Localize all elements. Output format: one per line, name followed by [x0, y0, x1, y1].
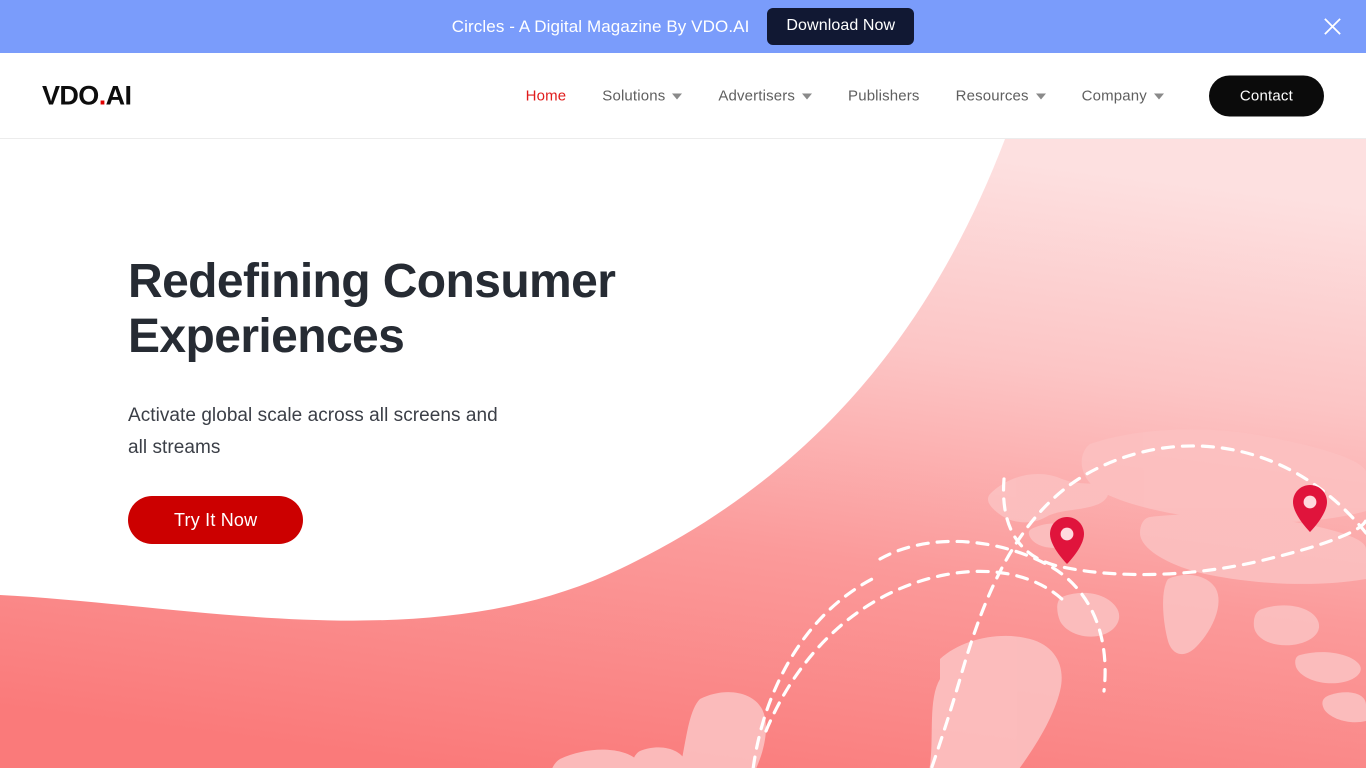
hero-subtitle: Activate global scale across all screens… [128, 400, 598, 464]
chevron-down-icon [1154, 94, 1164, 100]
nav-item-home[interactable]: Home [508, 87, 585, 104]
main-navigation: Home Solutions Advertisers Publishers Re… [508, 75, 1324, 116]
promo-message: Circles - A Digital Magazine By VDO.AI [452, 17, 750, 37]
logo-vdo-ai[interactable]: VDO.AI [42, 80, 131, 111]
hero-title-line-1: Redefining Consumer [128, 255, 615, 308]
logo-main: VDO [42, 80, 99, 110]
hero-section: Redefining Consumer Experiences Activate… [0, 139, 1366, 768]
nav-label-solutions: Solutions [602, 87, 665, 104]
chevron-down-icon [802, 94, 812, 100]
promo-banner: Circles - A Digital Magazine By VDO.AI D… [0, 0, 1366, 53]
close-icon [1324, 18, 1341, 35]
hero-copy: Redefining Consumer Experiences Activate… [128, 255, 748, 544]
nav-item-advertisers[interactable]: Advertisers [700, 87, 830, 104]
download-now-button[interactable]: Download Now [767, 8, 914, 45]
nav-label-company: Company [1082, 87, 1147, 104]
logo-suffix: AI [106, 80, 132, 110]
close-banner-button[interactable] [1318, 13, 1346, 41]
chevron-down-icon [1036, 94, 1046, 100]
site-header: VDO.AI Home Solutions Advertisers Publis… [0, 53, 1366, 139]
contact-button[interactable]: Contact [1209, 75, 1324, 116]
nav-label-publishers: Publishers [848, 87, 920, 104]
nav-label-advertisers: Advertisers [718, 87, 795, 104]
nav-item-company[interactable]: Company [1064, 87, 1182, 104]
hero-title-line-2: Experiences [128, 310, 404, 363]
hero-subtitle-line-1: Activate global scale across all screens… [128, 405, 498, 426]
nav-item-resources[interactable]: Resources [938, 87, 1064, 104]
nav-label-home: Home [526, 87, 567, 104]
page-title: Redefining Consumer Experiences [128, 255, 748, 364]
try-it-now-button[interactable]: Try It Now [128, 496, 303, 544]
nav-label-resources: Resources [956, 87, 1029, 104]
chevron-down-icon [672, 94, 682, 100]
nav-item-solutions[interactable]: Solutions [584, 87, 700, 104]
nav-item-publishers[interactable]: Publishers [830, 87, 938, 104]
logo-dot: . [99, 80, 106, 110]
hero-subtitle-line-2: all streams [128, 437, 220, 458]
